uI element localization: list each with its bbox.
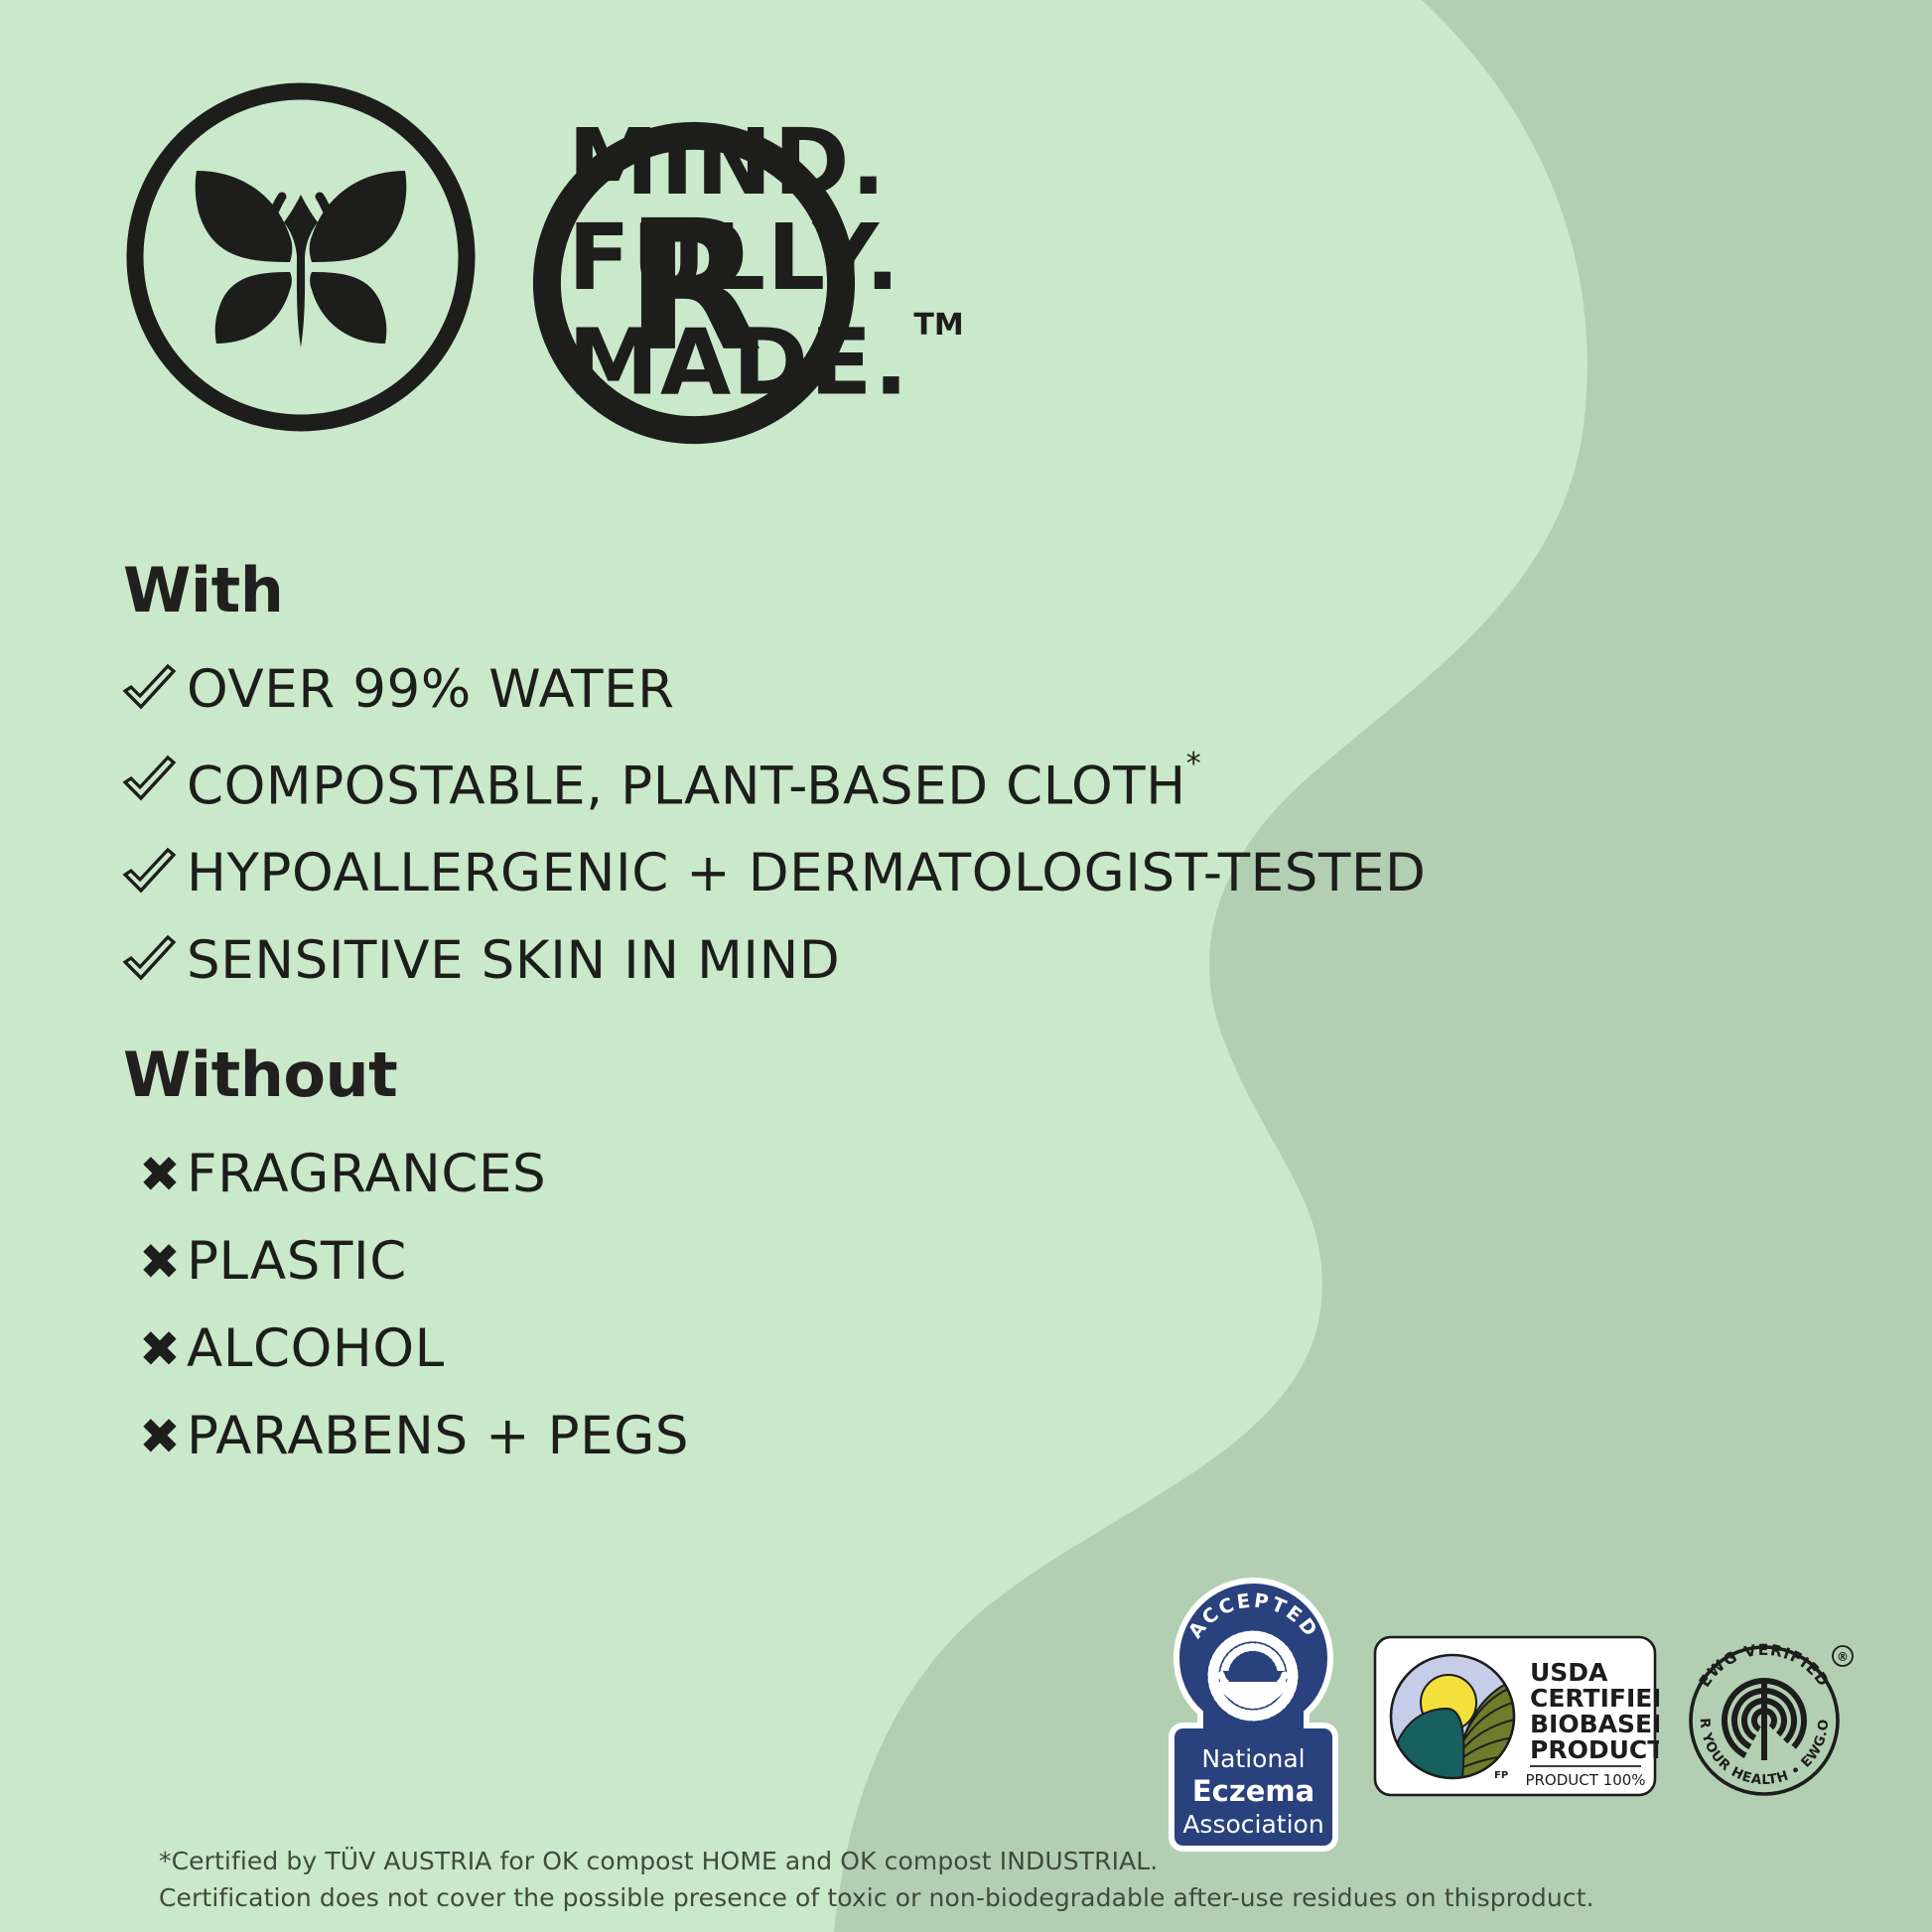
check-icon xyxy=(121,755,187,808)
without-list-item: ✖ ALCOHOL xyxy=(121,1318,689,1380)
footnote-line-1: *Certified by TÜV AUSTRIA for OK compost… xyxy=(159,1843,1594,1879)
with-list-item: COMPOSTABLE, PLANT-BASED CLOTH* xyxy=(121,747,1426,817)
cross-icon: ✖ xyxy=(121,1237,187,1287)
footnote: *Certified by TÜV AUSTRIA for OK compost… xyxy=(159,1843,1594,1916)
svg-text:®: ® xyxy=(1837,1650,1849,1664)
without-item-label: ALCOHOL xyxy=(187,1319,445,1379)
nea-line-2: Eczema xyxy=(1192,1774,1314,1808)
national-eczema-association-badge: ACCEPTED National Eczema Association xyxy=(1162,1577,1345,1855)
without-item-label: PLASTIC xyxy=(187,1232,407,1292)
trademark-mark: TM xyxy=(913,308,963,343)
tagline-line-2: FULLY. xyxy=(568,210,964,306)
brand-tagline: MIND. FULLY. MADE.TM xyxy=(568,115,964,411)
without-section-title: Without xyxy=(123,1040,689,1110)
nea-line-1: National xyxy=(1201,1744,1305,1773)
usda-line-4: PRODUCT xyxy=(1530,1735,1659,1764)
check-icon xyxy=(121,663,187,717)
cross-icon: ✖ xyxy=(121,1412,187,1461)
usda-biobased-badge: FP USDA CERTIFIED BIOBASED PRODUCT PRODU… xyxy=(1371,1629,1659,1803)
with-item-label: COMPOSTABLE, PLANT-BASED CLOTH* xyxy=(187,747,1201,817)
with-item-label: HYPOALLERGENIC + DERMATOLOGIST-TESTED xyxy=(187,844,1426,903)
ewg-verified-badge: EWG VERIFIED FOR YOUR HEALTH • EWG.ORG ® xyxy=(1683,1629,1857,1803)
without-item-label: PARABENS + PEGS xyxy=(187,1407,689,1466)
with-list-item: HYPOALLERGENIC + DERMATOLOGIST-TESTED xyxy=(121,843,1426,904)
usda-line-3: BIOBASED xyxy=(1530,1710,1659,1738)
check-icon xyxy=(121,847,187,900)
cross-icon: ✖ xyxy=(121,1150,187,1199)
usda-subline: PRODUCT 100% xyxy=(1525,1771,1645,1789)
with-list-item: OVER 99% WATER xyxy=(121,659,1426,721)
with-item-label: OVER 99% WATER xyxy=(187,660,675,720)
without-list-item: ✖ PARABENS + PEGS xyxy=(121,1406,689,1467)
footnote-line-2: Certification does not cover the possibl… xyxy=(159,1879,1594,1916)
with-section: With OVER 99% WATER COMPOSTABLE, PLANT-B… xyxy=(121,556,1426,1018)
brand-lockup: R MIND. FULLY. MADE.TM xyxy=(121,77,964,437)
footnote-asterisk: * xyxy=(1186,747,1202,781)
without-section: Without ✖ FRAGRANCES ✖ PLASTIC ✖ ALCOHOL… xyxy=(121,1040,689,1493)
without-list-item: ✖ PLASTIC xyxy=(121,1231,689,1293)
tagline-line-3: MADE. xyxy=(568,310,909,416)
tagline-line-3-wrap: MADE.TM xyxy=(568,306,964,411)
usda-corner-label: FP xyxy=(1494,1770,1508,1781)
tagline-line-1: MIND. xyxy=(568,115,964,210)
with-item-label: SENSITIVE SKIN IN MIND xyxy=(187,931,840,991)
check-icon xyxy=(121,934,187,988)
stippled-e-icon xyxy=(1213,1636,1293,1716)
infographic-canvas: R MIND. FULLY. MADE.TM With OVER 99% WAT… xyxy=(0,0,1932,1932)
usda-line-2: CERTIFIED xyxy=(1530,1684,1659,1713)
with-list-item: SENSITIVE SKIN IN MIND xyxy=(121,930,1426,992)
certification-badges: ACCEPTED National Eczema Association xyxy=(1162,1577,1857,1855)
butterfly-leaf-logo-icon: R xyxy=(121,77,481,437)
without-item-label: FRAGRANCES xyxy=(187,1145,546,1204)
nea-line-3: Association xyxy=(1182,1810,1323,1839)
ewg-registered-mark: ® xyxy=(1833,1646,1853,1666)
cross-icon: ✖ xyxy=(121,1324,187,1374)
usda-line-1: USDA xyxy=(1530,1658,1608,1687)
without-list-item: ✖ FRAGRANCES xyxy=(121,1144,689,1205)
with-section-title: With xyxy=(123,556,1426,625)
